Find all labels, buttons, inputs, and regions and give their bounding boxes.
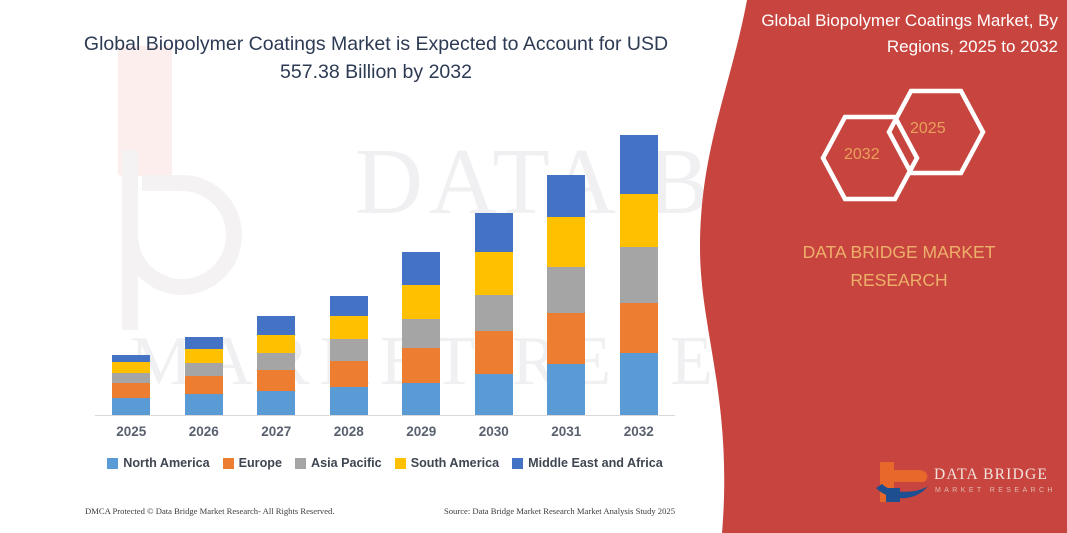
legend-label: North America	[123, 456, 209, 470]
bar-segment[interactable]	[475, 295, 513, 331]
bar-segment[interactable]	[330, 339, 368, 361]
legend-item[interactable]: North America	[107, 456, 209, 470]
bar-group	[95, 115, 675, 415]
legend-swatch-icon	[295, 458, 306, 469]
bar-2031[interactable]	[547, 175, 585, 415]
legend-item[interactable]: Europe	[223, 456, 282, 470]
bar-segment[interactable]	[257, 391, 295, 415]
bar-2029[interactable]	[402, 252, 440, 415]
bar-2028[interactable]	[330, 296, 368, 415]
bar-2030[interactable]	[475, 213, 513, 415]
chart-legend: North AmericaEuropeAsia PacificSouth Ame…	[95, 456, 675, 470]
infographic-page: DATA BRIDGE MARKET RESEARCH Global Biopo…	[0, 0, 1067, 533]
bar-segment[interactable]	[330, 387, 368, 415]
x-axis-label-2029: 2029	[402, 424, 440, 439]
bar-segment[interactable]	[330, 361, 368, 387]
bar-chart	[95, 110, 675, 416]
legend-item[interactable]: Asia Pacific	[295, 456, 382, 470]
legend-swatch-icon	[395, 458, 406, 469]
bridge-logo-icon	[872, 458, 934, 508]
bar-segment[interactable]	[185, 337, 223, 349]
bar-2027[interactable]	[257, 316, 295, 415]
legend-label: Europe	[239, 456, 282, 470]
logo-text-main: DATA BRIDGE	[934, 466, 1048, 484]
bar-segment[interactable]	[330, 316, 368, 339]
legend-label: Asia Pacific	[311, 456, 382, 470]
legend-label: South America	[411, 456, 499, 470]
bar-segment[interactable]	[257, 316, 295, 335]
bar-segment[interactable]	[185, 376, 223, 394]
x-axis-label-2030: 2030	[475, 424, 513, 439]
bar-segment[interactable]	[402, 383, 440, 415]
bar-segment[interactable]	[112, 383, 150, 398]
company-logo: DATA BRIDGE MARKET RESEARCH	[872, 458, 1052, 514]
bar-segment[interactable]	[547, 364, 585, 415]
bar-segment[interactable]	[112, 362, 150, 373]
bar-segment[interactable]	[257, 353, 295, 370]
bar-segment[interactable]	[112, 373, 150, 383]
hexagon-2032-label: 2032	[844, 146, 880, 164]
legend-swatch-icon	[107, 458, 118, 469]
bar-segment[interactable]	[547, 313, 585, 364]
logo-text-sub: MARKET RESEARCH	[935, 487, 1056, 494]
x-axis-label-2026: 2026	[185, 424, 223, 439]
hexagon-2025-label: 2025	[910, 120, 946, 138]
hexagon-group: 2032 2025	[820, 88, 990, 198]
bar-segment[interactable]	[185, 394, 223, 415]
bar-segment[interactable]	[112, 398, 150, 415]
bar-segment[interactable]	[620, 353, 658, 415]
bar-segment[interactable]	[402, 252, 440, 285]
bar-2026[interactable]	[185, 337, 223, 415]
bar-segment[interactable]	[547, 175, 585, 217]
bar-segment[interactable]	[475, 252, 513, 295]
bar-segment[interactable]	[330, 296, 368, 316]
legend-item[interactable]: Middle East and Africa	[512, 456, 663, 470]
legend-swatch-icon	[512, 458, 523, 469]
bar-segment[interactable]	[257, 335, 295, 353]
panel-content: Global Biopolymer Coatings Market, By Re…	[730, 0, 1067, 533]
bar-segment[interactable]	[475, 331, 513, 374]
legend-item[interactable]: South America	[395, 456, 499, 470]
footer-copyright: DMCA Protected © Data Bridge Market Rese…	[85, 506, 335, 516]
bar-segment[interactable]	[402, 319, 440, 348]
x-axis-label-2027: 2027	[257, 424, 295, 439]
bar-segment[interactable]	[620, 303, 658, 353]
page-title: Global Biopolymer Coatings Market is Exp…	[70, 30, 682, 86]
bar-segment[interactable]	[547, 217, 585, 267]
x-axis-labels: 20252026202720282029203020312032	[95, 424, 675, 439]
bar-segment[interactable]	[257, 370, 295, 391]
bar-2025[interactable]	[112, 355, 150, 415]
legend-label: Middle East and Africa	[528, 456, 663, 470]
bar-segment[interactable]	[112, 355, 150, 362]
bar-segment[interactable]	[620, 194, 658, 247]
bar-segment[interactable]	[547, 267, 585, 313]
x-axis-label-2031: 2031	[547, 424, 585, 439]
bar-segment[interactable]	[475, 213, 513, 252]
brand-name: DATA BRIDGE MARKET RESEARCH	[768, 238, 1030, 294]
x-axis-label-2025: 2025	[112, 424, 150, 439]
bar-segment[interactable]	[402, 348, 440, 383]
bar-segment[interactable]	[620, 135, 658, 194]
bar-2032[interactable]	[620, 135, 658, 415]
footer: DMCA Protected © Data Bridge Market Rese…	[85, 506, 675, 516]
bar-segment[interactable]	[185, 363, 223, 376]
legend-swatch-icon	[223, 458, 234, 469]
bar-segment[interactable]	[185, 349, 223, 363]
footer-source: Source: Data Bridge Market Research Mark…	[444, 506, 675, 516]
x-axis-line	[95, 415, 675, 416]
x-axis-label-2028: 2028	[330, 424, 368, 439]
panel-title: Global Biopolymer Coatings Market, By Re…	[740, 8, 1058, 60]
bar-segment[interactable]	[402, 285, 440, 319]
bar-segment[interactable]	[620, 247, 658, 303]
bar-segment[interactable]	[475, 374, 513, 415]
x-axis-label-2032: 2032	[620, 424, 658, 439]
